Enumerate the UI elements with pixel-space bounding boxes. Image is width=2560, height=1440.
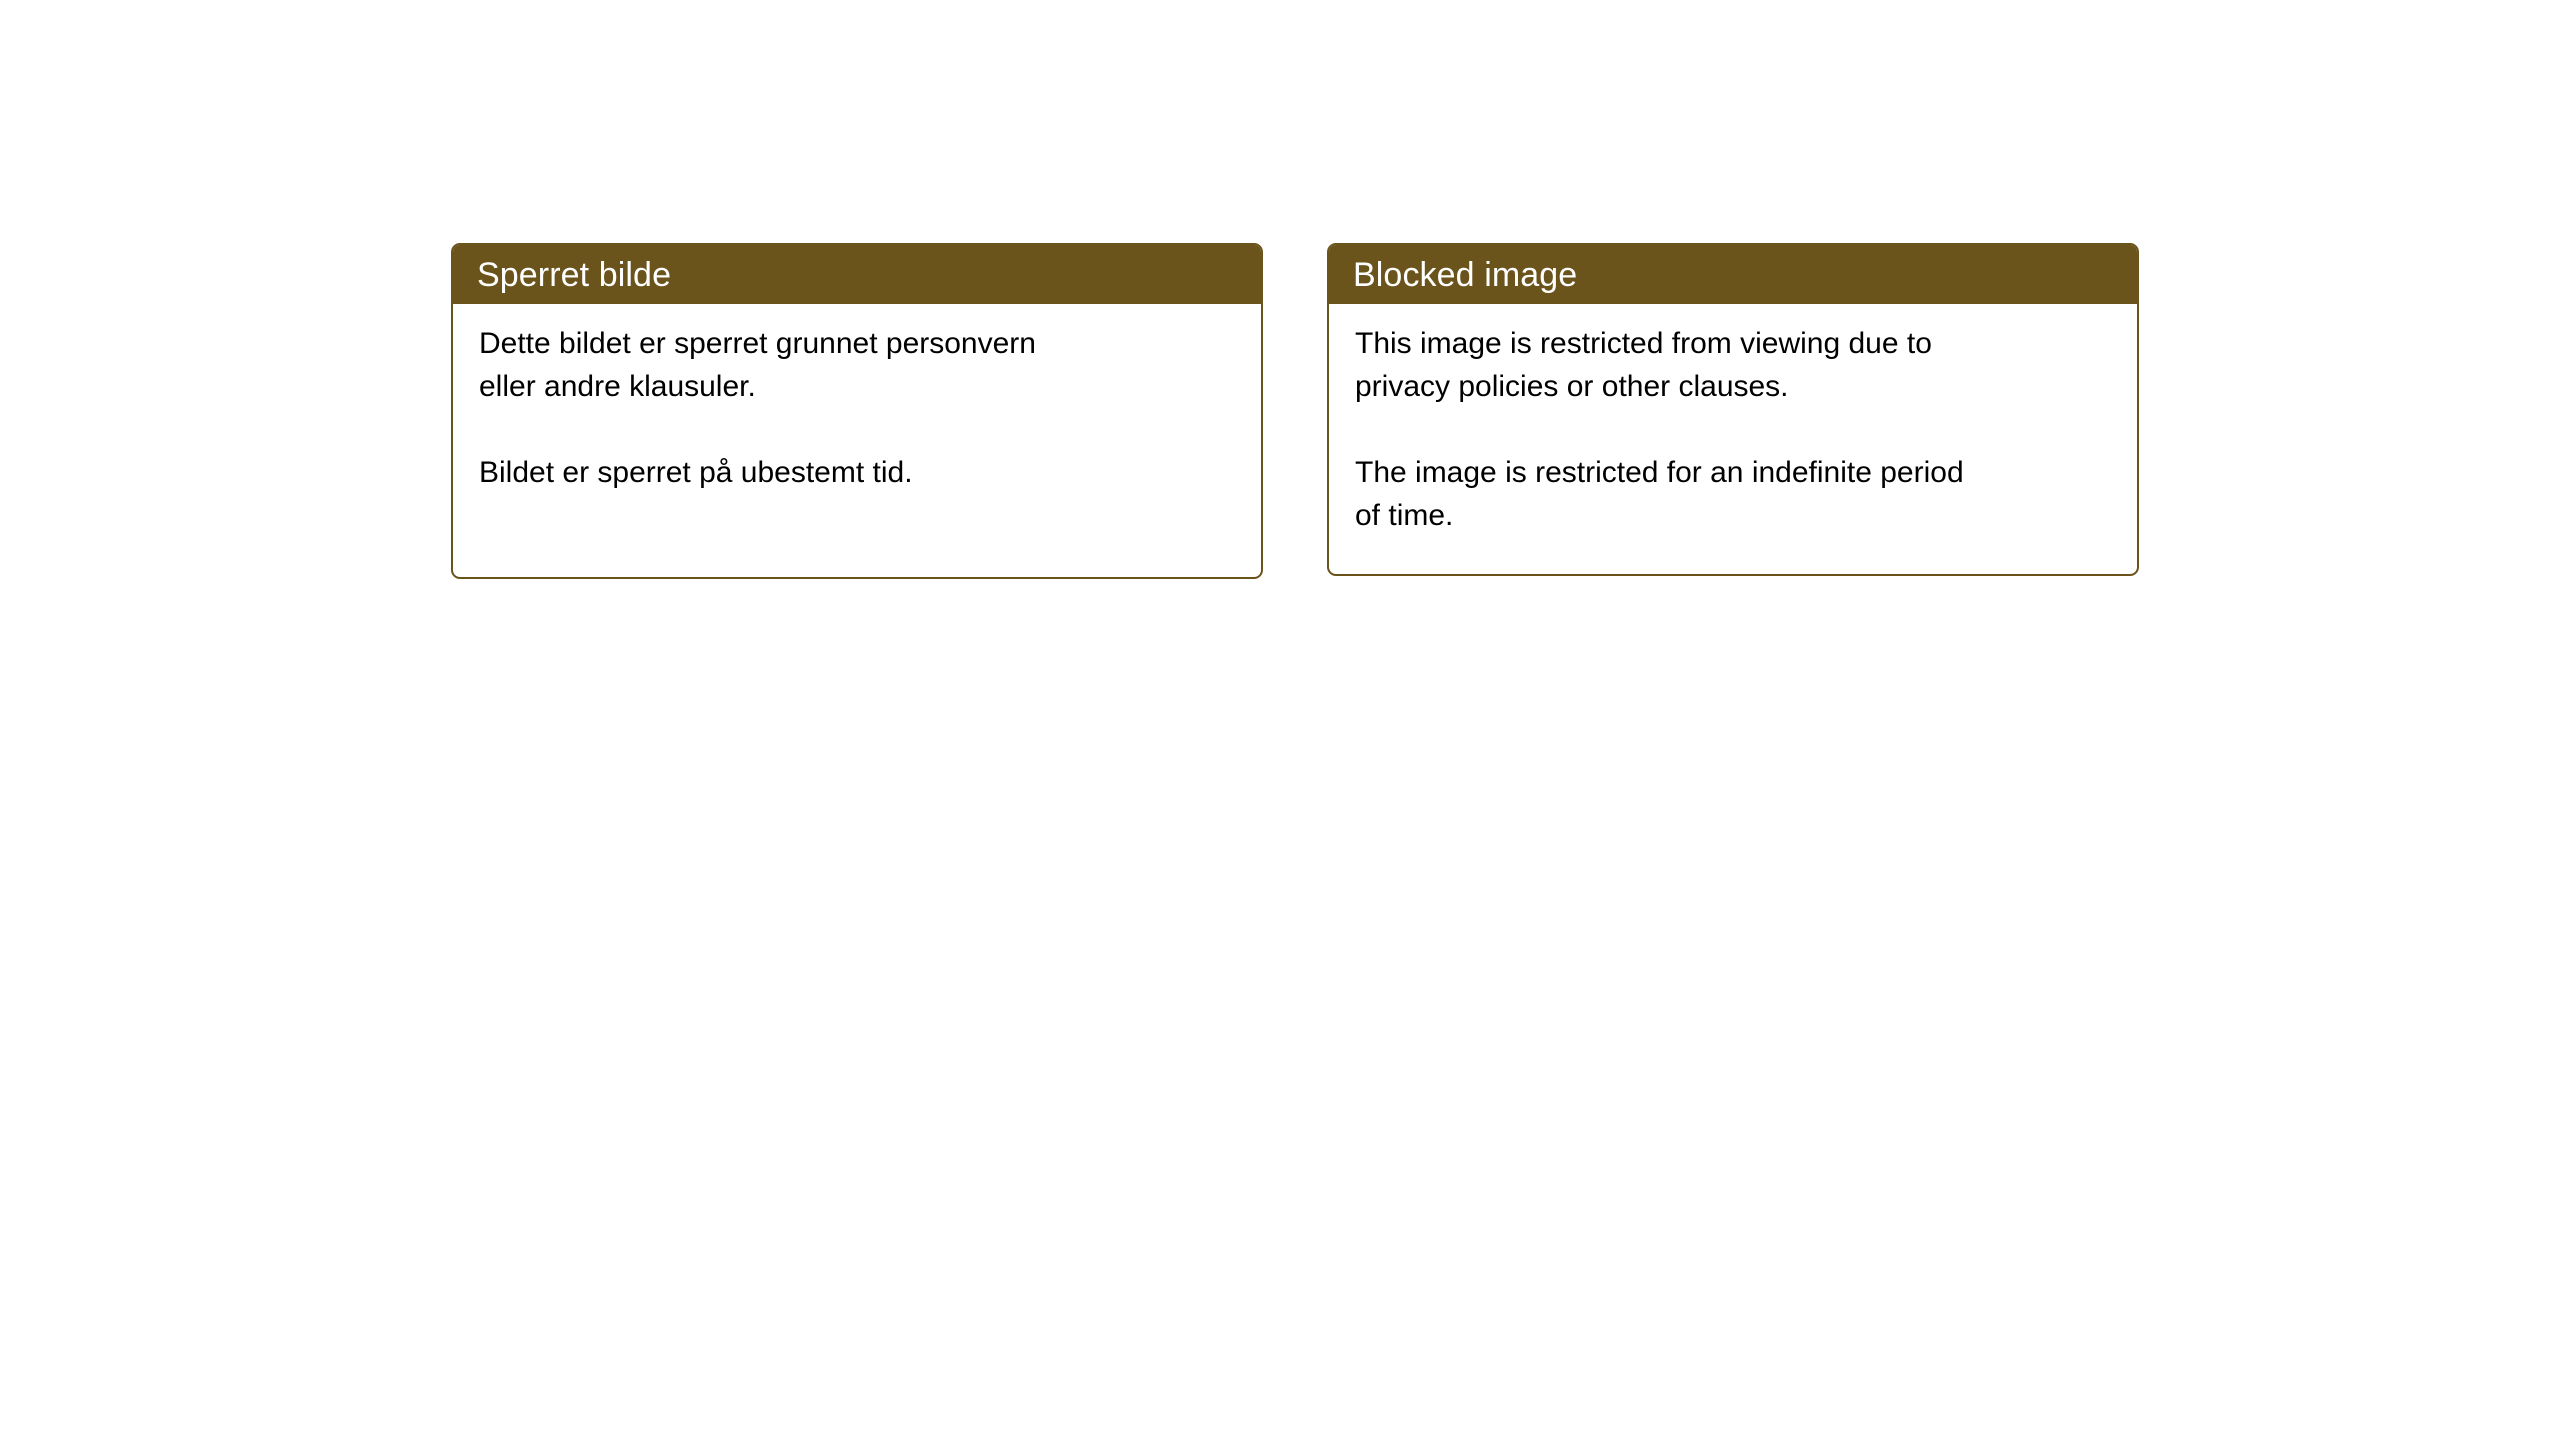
card-header-english: Blocked image <box>1329 245 2137 304</box>
card-body-norwegian: Dette bildet er sperret grunnet personve… <box>453 304 1261 494</box>
card-body-english: This image is restricted from viewing du… <box>1329 304 2137 537</box>
card-paragraph-duration-english: The image is restricted for an indefinit… <box>1355 451 2111 537</box>
card-paragraph-privacy-english: This image is restricted from viewing du… <box>1355 322 2111 408</box>
blocked-image-notice-card-norwegian: Sperret bilde Dette bildet er sperret gr… <box>451 243 1263 579</box>
page-canvas: Sperret bilde Dette bildet er sperret gr… <box>0 0 2560 1440</box>
card-header-norwegian: Sperret bilde <box>453 245 1261 304</box>
card-paragraph-duration-norwegian: Bildet er sperret på ubestemt tid. <box>479 451 1235 494</box>
card-title-norwegian: Sperret bilde <box>477 255 671 295</box>
card-paragraph-privacy-norwegian: Dette bildet er sperret grunnet personve… <box>479 322 1235 408</box>
blocked-image-notice-card-english: Blocked image This image is restricted f… <box>1327 243 2139 576</box>
card-title-english: Blocked image <box>1353 255 1577 295</box>
